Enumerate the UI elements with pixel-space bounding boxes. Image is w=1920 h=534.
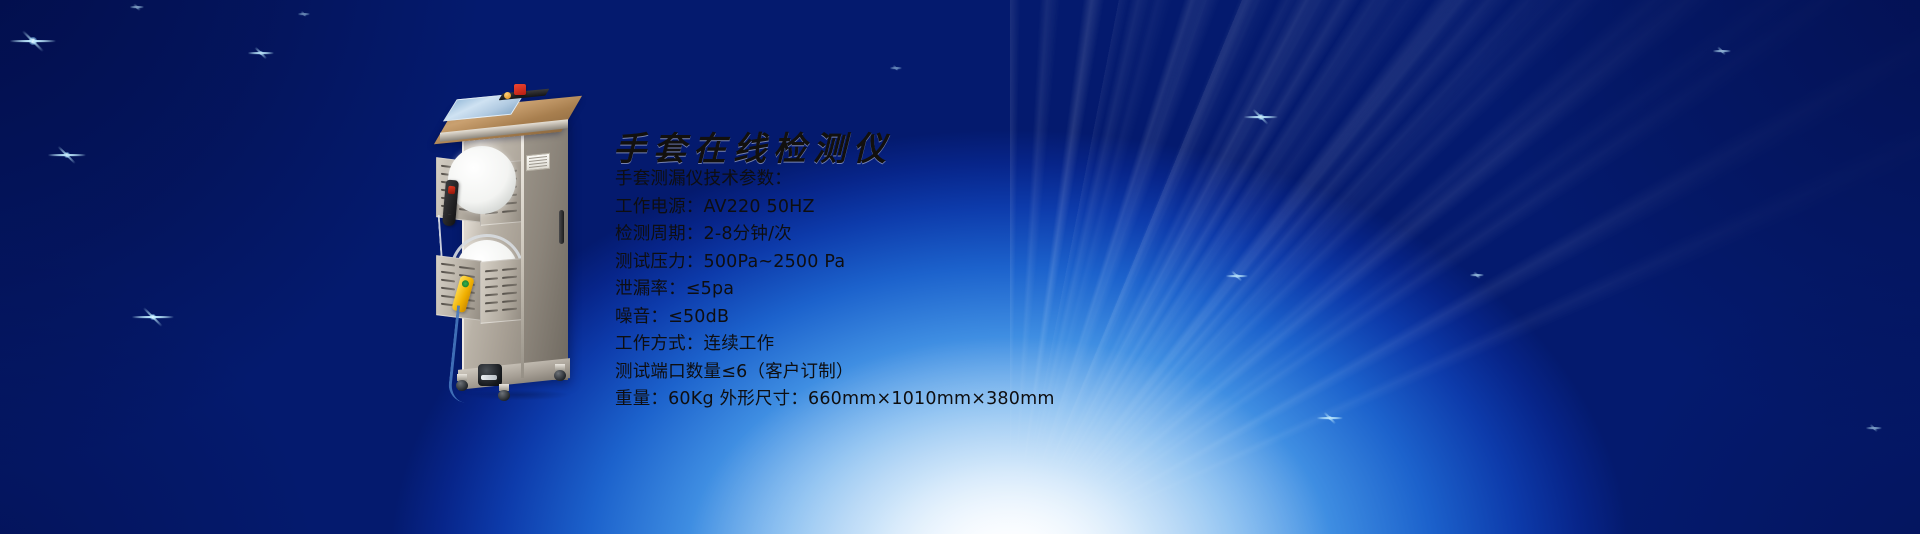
spec-line: 手套测漏仪技术参数：	[615, 166, 1375, 194]
spec-line: 工作方式：连续工作	[615, 331, 1375, 359]
product-shadow	[448, 388, 588, 402]
spec-list: 手套测漏仪技术参数：工作电源：AV220 50HZ检测周期：2-8分钟/次测试压…	[615, 166, 1375, 414]
spec-line: 泄漏率：≤5pa	[615, 276, 1375, 304]
spec-line: 测试压力：500Pa~2500 Pa	[615, 249, 1375, 277]
product-banner: 手套在线检测仪 手套测漏仪技术参数：工作电源：AV220 50HZ检测周期：2-…	[0, 0, 1920, 534]
indicator-lamp-orange-icon	[504, 92, 511, 99]
caster-wheel	[456, 374, 468, 390]
cabinet-door-handle	[559, 210, 564, 244]
caster-wheel	[498, 384, 510, 400]
spec-line: 检测周期：2-8分钟/次	[615, 221, 1375, 249]
bottom-black-unit	[478, 364, 502, 386]
test-port-disc-upper	[448, 146, 516, 214]
page-title: 手套在线检测仪	[613, 122, 893, 170]
cabinet-door-seam	[521, 128, 524, 378]
spec-line: 工作电源：AV220 50HZ	[615, 194, 1375, 222]
vent-grille-lower-right	[480, 258, 522, 324]
caster-wheel	[554, 364, 566, 380]
product-image-glove-tester	[418, 88, 608, 398]
spec-plate-sticker	[526, 153, 550, 172]
spec-line: 重量：60Kg 外形尺寸：660mm×1010mm×380mm	[615, 386, 1375, 414]
spec-line: 噪音：≤50dB	[615, 304, 1375, 332]
emergency-stop-button	[514, 84, 526, 95]
spec-line: 测试端口数量≤6（客户订制）	[615, 359, 1375, 387]
